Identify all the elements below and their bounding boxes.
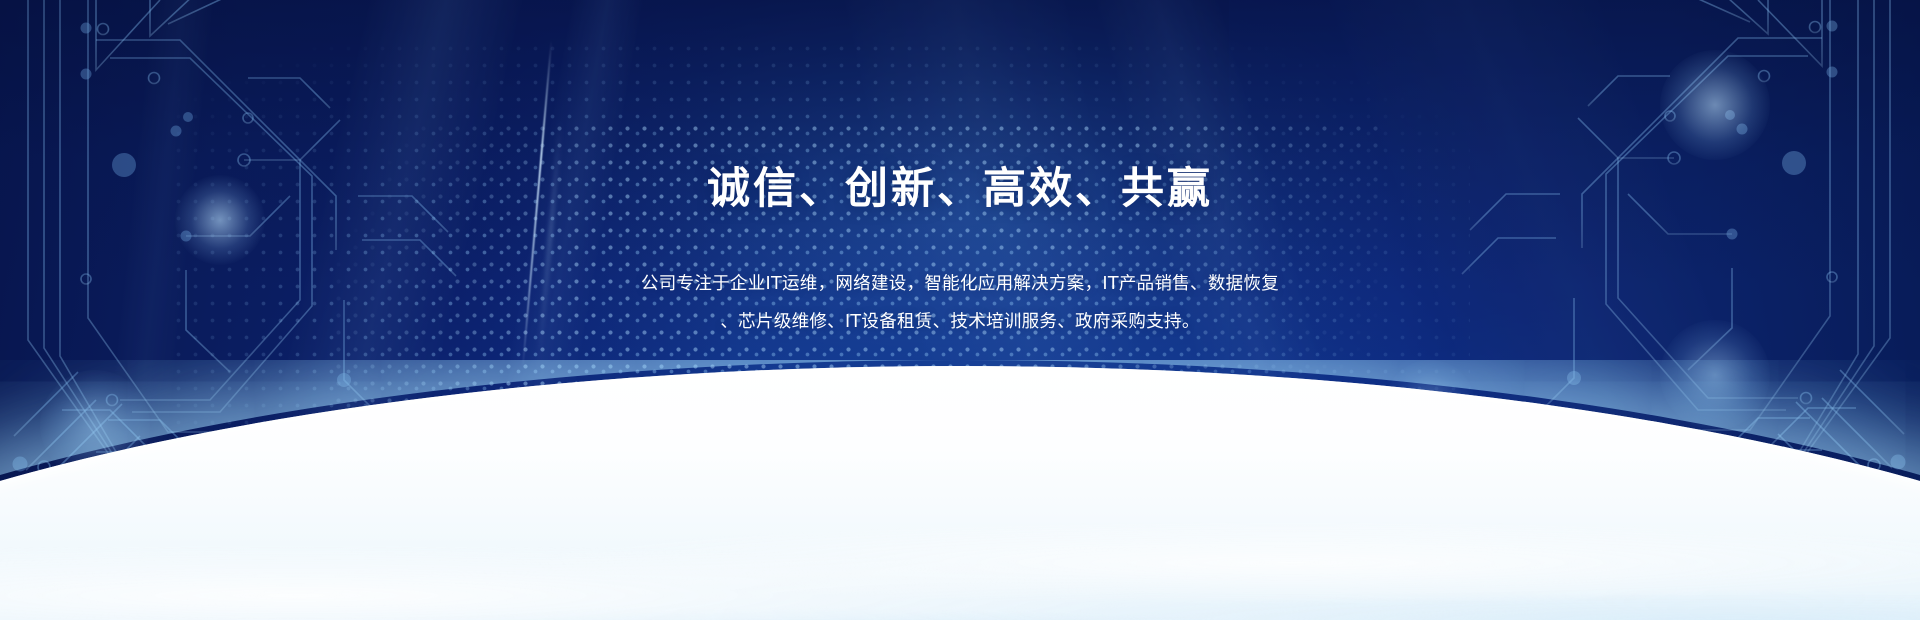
hero-banner: 诚信、创新、高效、共赢 公司专注于企业IT运维，网络建设，智能化应用解决方案，I…	[0, 0, 1920, 620]
banner-subtitle-line-2: 、芯片级维修、IT设备租赁、技术培训服务、政府采购支持。	[640, 303, 1280, 341]
banner-content: 诚信、创新、高效、共赢 公司专注于企业IT运维，网络建设，智能化应用解决方案，I…	[0, 0, 1920, 620]
banner-headline: 诚信、创新、高效、共赢	[0, 163, 1920, 217]
banner-subtitle: 公司专注于企业IT运维，网络建设，智能化应用解决方案，IT产品销售、数据恢复 、…	[640, 265, 1280, 341]
banner-subtitle-line-1: 公司专注于企业IT运维，网络建设，智能化应用解决方案，IT产品销售、数据恢复	[640, 265, 1280, 303]
